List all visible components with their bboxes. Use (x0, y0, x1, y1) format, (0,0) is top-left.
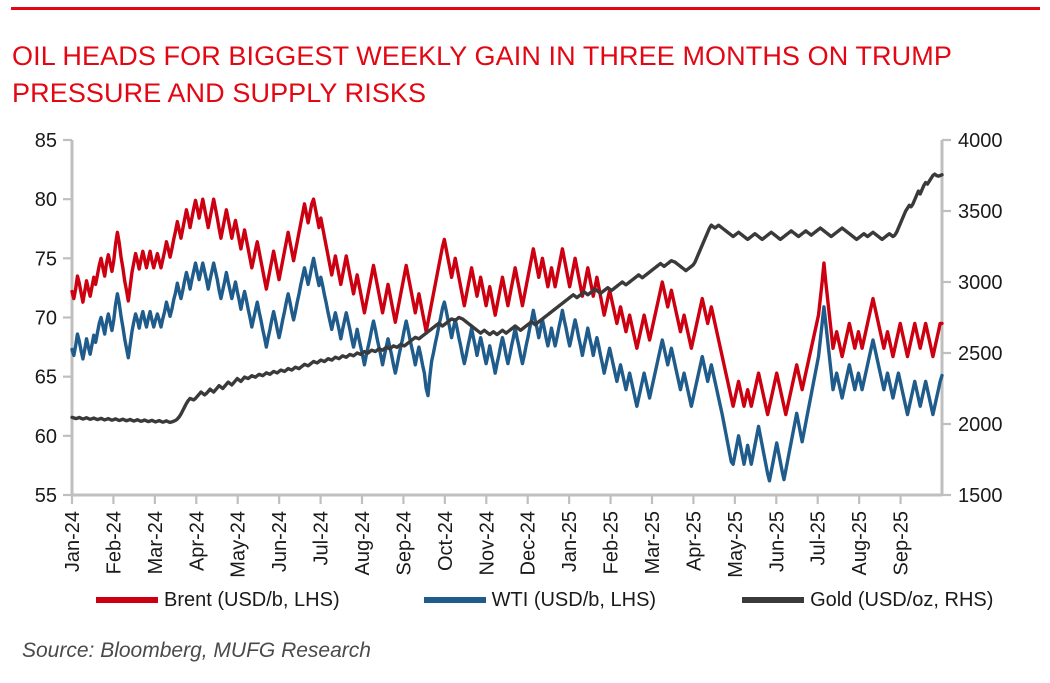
legend-swatch-gold (742, 597, 804, 603)
series-line-brent (72, 199, 942, 414)
x-axis-tick-label: Feb-25 (601, 511, 623, 574)
x-axis-tick-label: Jul-25 (808, 511, 830, 565)
x-axis-tick-label: Aug-24 (352, 511, 374, 576)
x-axis-tick-label: May-25 (725, 511, 747, 578)
left-axis: 55606570758085 (35, 130, 72, 507)
x-axis-tick-label: Sep-25 (891, 511, 913, 576)
left-axis-tick-label: 55 (35, 485, 57, 507)
x-axis-tick-label: Jun-24 (269, 511, 291, 572)
source-note: Source: Bloomberg, MUFG Research (22, 639, 371, 663)
x-axis-tick-label: May-24 (228, 511, 250, 578)
x-axis-tick-label: Jan-24 (62, 511, 84, 572)
right-axis-tick-label: 2500 (958, 343, 1003, 365)
x-axis-tick-label: Oct-24 (435, 511, 457, 571)
legend-item-wti: WTI (USD/b, LHS) (424, 589, 656, 612)
legend-swatch-wti (424, 597, 486, 603)
left-axis-tick-label: 60 (35, 426, 57, 448)
x-axis-tick-label: Apr-25 (683, 511, 705, 571)
right-axis: 150020002500300035004000 (942, 130, 1003, 507)
right-axis-tick-label: 2000 (958, 414, 1003, 436)
x-axis-tick-label: Sep-24 (393, 511, 415, 576)
legend-item-brent: Brent (USD/b, LHS) (96, 589, 340, 612)
legend-label-brent: Brent (USD/b, LHS) (164, 589, 340, 612)
right-axis-tick-label: 3500 (958, 201, 1003, 223)
right-axis-tick-label: 3000 (958, 272, 1003, 294)
left-axis-tick-label: 65 (35, 367, 57, 389)
right-axis-tick-label: 4000 (958, 130, 1003, 152)
x-axis-tick-label: Dec-24 (518, 511, 540, 575)
x-axis-tick-label: Jan-25 (559, 511, 581, 572)
x-axis-tick-label: Nov-24 (476, 511, 498, 575)
x-axis-tick-label: Aug-25 (849, 511, 871, 576)
x-axis-tick-label: Apr-24 (186, 511, 208, 571)
x-axis-tick-label: Jul-24 (311, 511, 333, 565)
chart-plot-area: 55606570758085 150020002500300035004000 … (0, 0, 1050, 683)
series-lines (72, 174, 942, 481)
x-axis: Jan-24Feb-24Mar-24Apr-24May-24Jun-24Jul-… (62, 495, 942, 578)
legend-item-gold: Gold (USD/oz, RHS) (742, 589, 993, 612)
x-axis-tick-label: Mar-24 (145, 511, 167, 574)
x-axis-tick-label: Feb-24 (103, 511, 125, 574)
legend-swatch-brent (96, 597, 158, 603)
chart-svg: 55606570758085 150020002500300035004000 … (0, 0, 1050, 683)
left-axis-tick-label: 75 (35, 248, 57, 270)
x-axis-tick-label: Mar-25 (642, 511, 664, 574)
legend-label-gold: Gold (USD/oz, RHS) (810, 589, 993, 612)
left-axis-tick-label: 85 (35, 130, 57, 152)
series-line-wti (72, 258, 942, 480)
right-axis-tick-label: 1500 (958, 485, 1003, 507)
left-axis-tick-label: 80 (35, 189, 57, 211)
legend-label-wti: WTI (USD/b, LHS) (492, 589, 656, 612)
x-axis-tick-label: Jun-25 (766, 511, 788, 572)
chart-legend: Brent (USD/b, LHS) WTI (USD/b, LHS) Gold… (0, 585, 1050, 615)
left-axis-tick-label: 70 (35, 308, 57, 330)
